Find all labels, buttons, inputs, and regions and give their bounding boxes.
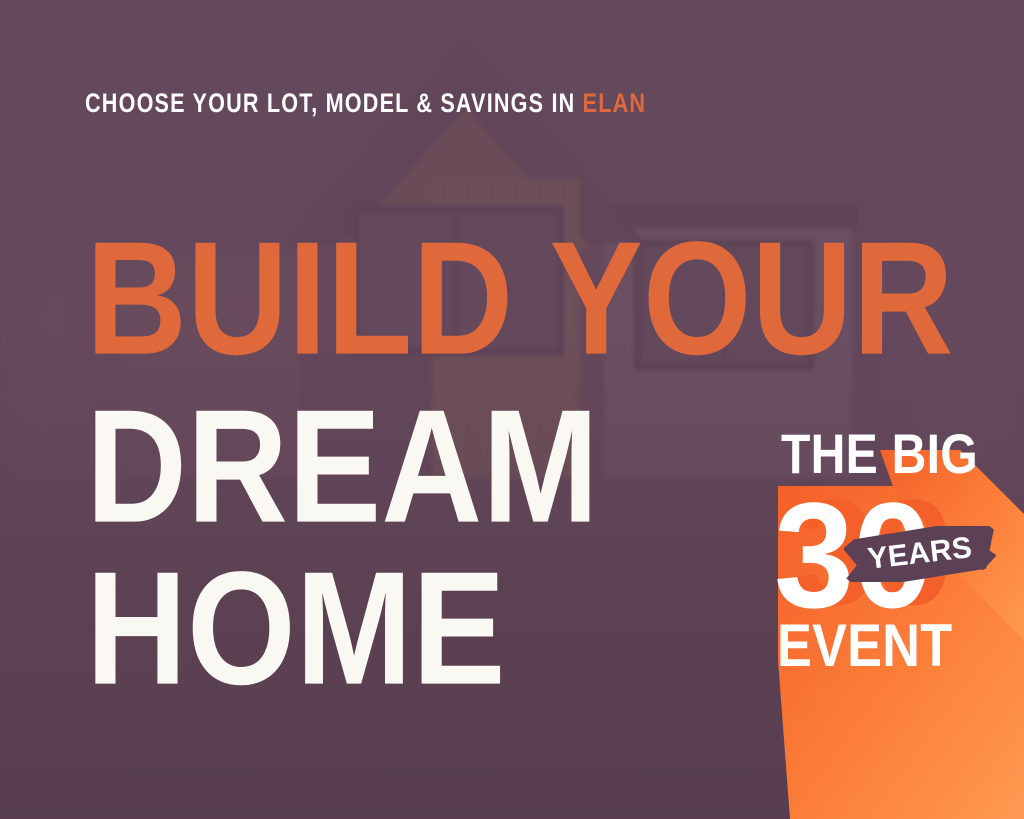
kicker-brand-elan: ELAN: [583, 88, 647, 118]
kicker-text: CHOOSE YOUR LOT, MODEL & SAVINGS IN: [85, 88, 583, 118]
headline-line-build-your: BUILD YOUR: [86, 236, 954, 362]
years-ribbon: YEARS: [844, 526, 996, 582]
headline-line-home: HOME: [86, 566, 506, 692]
badge-event-label: EVENT: [777, 616, 952, 676]
kicker-headline: CHOOSE YOUR LOT, MODEL & SAVINGS IN ELAN: [85, 88, 646, 119]
promo-banner: CHOOSE YOUR LOT, MODEL & SAVINGS IN ELAN…: [0, 0, 1024, 819]
headline-line-dream: DREAM: [86, 404, 599, 530]
anniversary-badge: THE BIG 30 30 YEARS EVENT: [770, 418, 986, 708]
